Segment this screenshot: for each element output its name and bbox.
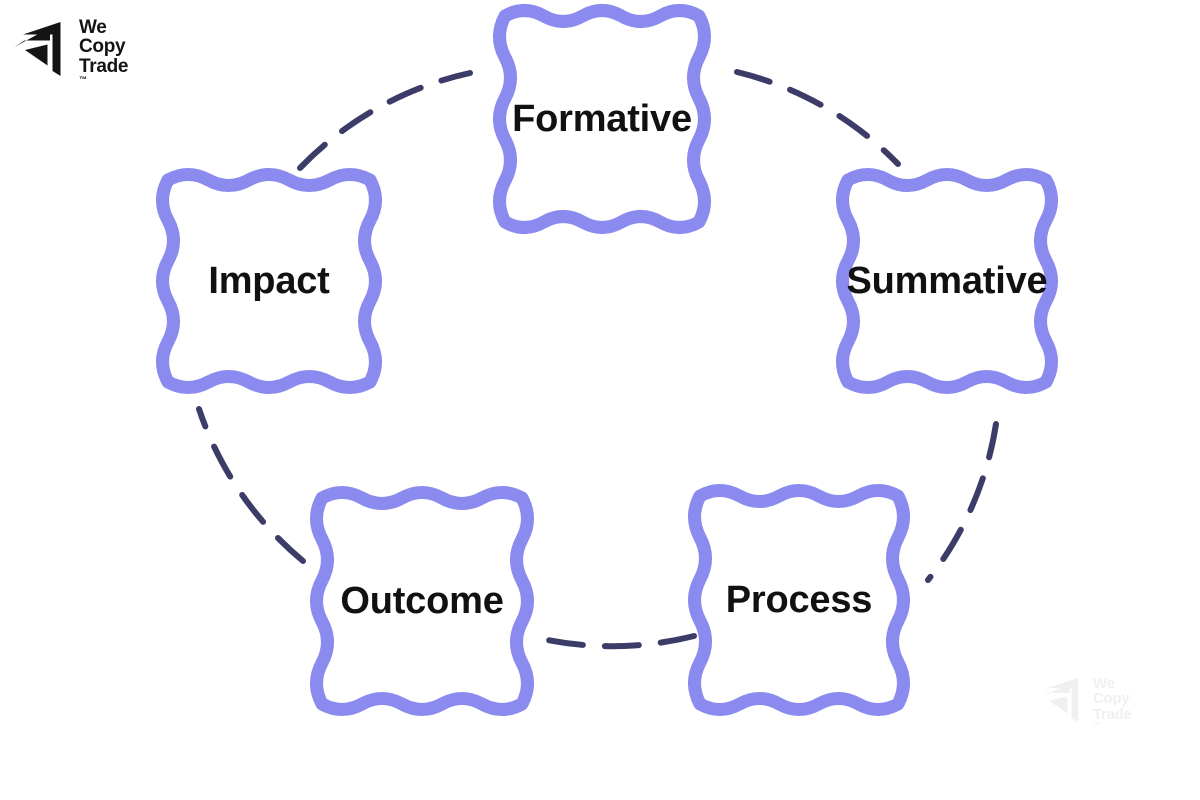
- wecopytrade-arrow-logo-watermark-icon: [1040, 676, 1086, 729]
- connector-impact-to-formative: [300, 73, 470, 168]
- node-label-process: Process: [726, 579, 872, 622]
- brand-watermark-line-2: Copy: [1093, 691, 1132, 706]
- node-label-summative: Summative: [847, 260, 1048, 303]
- brand-logo: We Copy Trade™: [14, 18, 128, 84]
- brand-line-3: Trade: [79, 57, 128, 76]
- brand-watermark-wordmark: We Copy Trade™: [1093, 676, 1132, 729]
- node-impact[interactable]: Impact: [156, 168, 382, 394]
- brand-line-3-wrap: Trade™: [79, 57, 128, 85]
- node-formative[interactable]: Formative: [493, 4, 711, 234]
- brand-wordmark: We Copy Trade™: [79, 18, 128, 84]
- brand-watermark-line-3: Trade: [1093, 707, 1132, 722]
- brand-watermark: We Copy Trade™: [1040, 676, 1132, 729]
- brand-trademark: ™: [79, 76, 128, 84]
- brand-watermark-line-3-wrap: Trade™: [1093, 707, 1132, 729]
- brand-line-1: We: [79, 18, 128, 37]
- connector-outcome-to-impact: [199, 409, 303, 561]
- node-label-outcome: Outcome: [340, 580, 503, 623]
- node-label-formative: Formative: [512, 98, 692, 141]
- connector-summative-to-process: [928, 424, 996, 580]
- connector-formative-to-summative: [737, 72, 898, 164]
- brand-watermark-line-1: We: [1093, 676, 1132, 691]
- connector-process-to-outcome: [534, 636, 694, 646]
- node-outcome[interactable]: Outcome: [310, 486, 534, 716]
- node-summative[interactable]: Summative: [836, 168, 1058, 394]
- node-process[interactable]: Process: [688, 484, 910, 716]
- brand-watermark-trademark: ™: [1093, 722, 1132, 729]
- wecopytrade-arrow-logo-icon: [14, 20, 70, 83]
- brand-line-2: Copy: [79, 37, 128, 56]
- node-label-impact: Impact: [208, 260, 329, 303]
